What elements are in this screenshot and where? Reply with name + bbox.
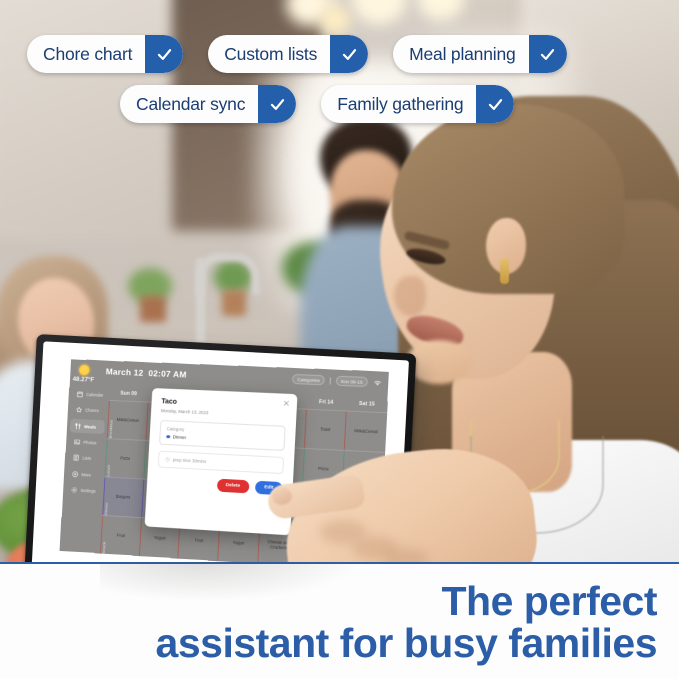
- meal-cell[interactable]: Fruit: [100, 516, 141, 556]
- check-icon: [476, 85, 514, 123]
- meal-detail-modal: Taco Monday, March 13, 2023 Category Din…: [145, 388, 298, 535]
- datetime-label: March 12 02:07 AM: [106, 366, 187, 379]
- sidebar-item-more[interactable]: More: [67, 467, 102, 482]
- list-icon: [73, 455, 80, 462]
- badge-row-1: Chore chart Custom lists Meal planning: [27, 35, 567, 73]
- check-icon: [330, 35, 368, 73]
- badge-label: Calendar sync: [120, 94, 258, 115]
- meal-cell[interactable]: Chicken: [300, 488, 343, 529]
- check-icon: [529, 35, 567, 73]
- sidebar-item-chores[interactable]: Chores: [70, 403, 105, 418]
- meal-cell[interactable]: Pizza: [105, 439, 146, 478]
- badge-calendar-sync[interactable]: Calendar sync: [120, 85, 296, 123]
- badge-label: Custom lists: [208, 44, 330, 65]
- edit-button[interactable]: Edit: [255, 481, 283, 496]
- meal-cell[interactable]: Toast: [304, 410, 347, 450]
- delete-button[interactable]: Delete: [216, 479, 249, 494]
- meal-text: Fruit: [315, 546, 324, 551]
- meal-text: Milk&Cereal: [116, 417, 138, 423]
- meal-cell[interactable]: Milk&Cereal: [344, 411, 387, 451]
- badge-row-2: Calendar sync Family gathering: [120, 85, 514, 123]
- date-label: March 12: [106, 366, 144, 377]
- headline-line-2: assistant for busy families: [156, 620, 657, 666]
- meal-cell[interactable]: Burgers: [102, 477, 143, 517]
- meal-text: Yogurt: [154, 536, 166, 542]
- meal-cell[interactable]: Fish: [340, 491, 383, 532]
- meal-text: Fruit: [195, 538, 204, 543]
- gear-icon: [71, 487, 78, 494]
- promo-banner: 48.27°F March 12 02:07 AM Categories Sun…: [0, 0, 679, 679]
- categories-dropdown[interactable]: Categories: [292, 374, 325, 386]
- meal-cell[interactable]: Pizza: [302, 449, 345, 490]
- meal-text: Pizza: [318, 466, 329, 471]
- badge-label: Meal planning: [393, 44, 528, 65]
- badge-meal-planning[interactable]: Meal planning: [393, 35, 566, 73]
- meal-cell[interactable]: Rice: [342, 451, 385, 492]
- close-icon[interactable]: [283, 400, 290, 407]
- wifi-icon: [373, 378, 383, 387]
- sidebar-item-settings[interactable]: Settings: [66, 483, 101, 499]
- page-title: The perfect assistant for busy families: [37, 580, 657, 665]
- tablet-bezel: 48.27°F March 12 02:07 AM Categories Sun…: [24, 334, 416, 592]
- sidebar-item-photos[interactable]: Photos: [69, 435, 104, 450]
- sidebar-item-lists[interactable]: Lists: [68, 451, 103, 466]
- headline-line-1: The perfect: [442, 578, 658, 624]
- star-icon: [75, 407, 82, 414]
- photo-icon: [74, 439, 81, 446]
- sidebar-label: Photos: [83, 440, 96, 446]
- sidebar-item-calendar[interactable]: Calendar: [71, 387, 106, 402]
- clock-icon: [165, 457, 170, 462]
- check-icon: [145, 35, 183, 73]
- day-label: Sat 15: [359, 401, 375, 408]
- sidebar-label: Calendar: [86, 392, 103, 398]
- category-card: Category Dinner: [159, 420, 286, 451]
- sidebar-label: Lists: [82, 456, 91, 461]
- meal-text: Fruit: [117, 533, 125, 538]
- meal-text: Pizza: [120, 456, 130, 461]
- badge-chore-chart[interactable]: Chore chart: [27, 35, 183, 73]
- prep-time-placeholder: prep time 30mins: [173, 457, 207, 464]
- sidebar-label: Meals: [84, 424, 96, 429]
- time-label: 02:07 AM: [148, 368, 187, 379]
- sidebar-label: More: [81, 472, 91, 477]
- meal-cell[interactable]: Milk&Cereal: [107, 401, 148, 440]
- day-label: Fri 14: [319, 399, 333, 406]
- temperature-label: 48.27°F: [73, 376, 95, 384]
- sidebar-label: Settings: [80, 488, 96, 494]
- meal-text: Cheese and Crackers: [261, 540, 297, 552]
- check-icon: [258, 85, 296, 123]
- headline-band: The perfect assistant for busy families: [0, 562, 679, 679]
- meal-text: Chicken: [313, 506, 329, 512]
- prep-time-field[interactable]: prep time 30mins: [158, 451, 284, 475]
- sun-icon: [79, 364, 90, 375]
- tablet-screen[interactable]: 48.27°F March 12 02:07 AM Categories Sun…: [60, 359, 389, 572]
- day-label: Sun 09: [120, 391, 137, 398]
- sidebar-label: Chores: [85, 408, 99, 414]
- meal-text: Milk&Cereal: [354, 429, 378, 435]
- meal-text: Burgers: [116, 494, 131, 500]
- week-range-chip[interactable]: Sun 09-15: [335, 376, 368, 388]
- meal-text: Fish: [358, 508, 366, 513]
- category-value: Dinner: [173, 434, 187, 440]
- sidebar-item-meals[interactable]: Meals: [70, 419, 105, 434]
- family-hub-app: 48.27°F March 12 02:07 AM Categories Sun…: [60, 359, 389, 572]
- badge-custom-lists[interactable]: Custom lists: [208, 35, 368, 73]
- utensils-icon: [75, 423, 82, 430]
- meal-text: Rice: [360, 469, 369, 474]
- plus-icon: [72, 471, 79, 478]
- badge-label: Chore chart: [27, 44, 145, 65]
- badge-family-gathering[interactable]: Family gathering: [321, 85, 514, 123]
- divider: [330, 377, 331, 384]
- meal-text: Toast: [320, 427, 330, 432]
- category-dot-icon: [166, 435, 170, 439]
- modal-actions: Delete Edit: [157, 475, 283, 495]
- meal-text: Yogurt: [354, 548, 367, 554]
- meal-text: Yogurt: [233, 540, 245, 546]
- calendar-icon: [76, 391, 83, 398]
- badge-label: Family gathering: [321, 94, 476, 115]
